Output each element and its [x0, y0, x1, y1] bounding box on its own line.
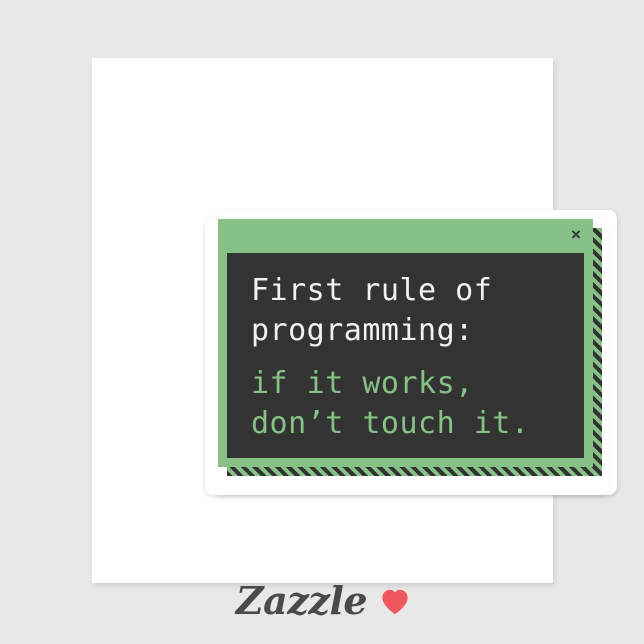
heart-icon — [381, 588, 409, 616]
terminal-line-1: First rule of — [251, 271, 584, 311]
product-card: × First rule of programming: if it works… — [92, 58, 553, 583]
terminal-body: First rule of programming: if it works, … — [227, 253, 584, 458]
close-icon[interactable]: × — [566, 225, 586, 245]
terminal-line-gap — [251, 351, 584, 364]
terminal-line-4: don’t touch it. — [251, 404, 584, 444]
window-titlebar: × — [218, 219, 593, 253]
zazzle-wordmark: Zazzle — [236, 578, 367, 623]
terminal-line-3: if it works, — [251, 364, 584, 404]
terminal-window: × First rule of programming: if it works… — [218, 219, 593, 467]
product-canvas: × First rule of programming: if it works… — [0, 0, 644, 644]
sticker-graphic: × First rule of programming: if it works… — [205, 210, 617, 495]
terminal-line-2: programming: — [251, 311, 584, 351]
brand-lockup: Zazzle — [92, 575, 553, 625]
